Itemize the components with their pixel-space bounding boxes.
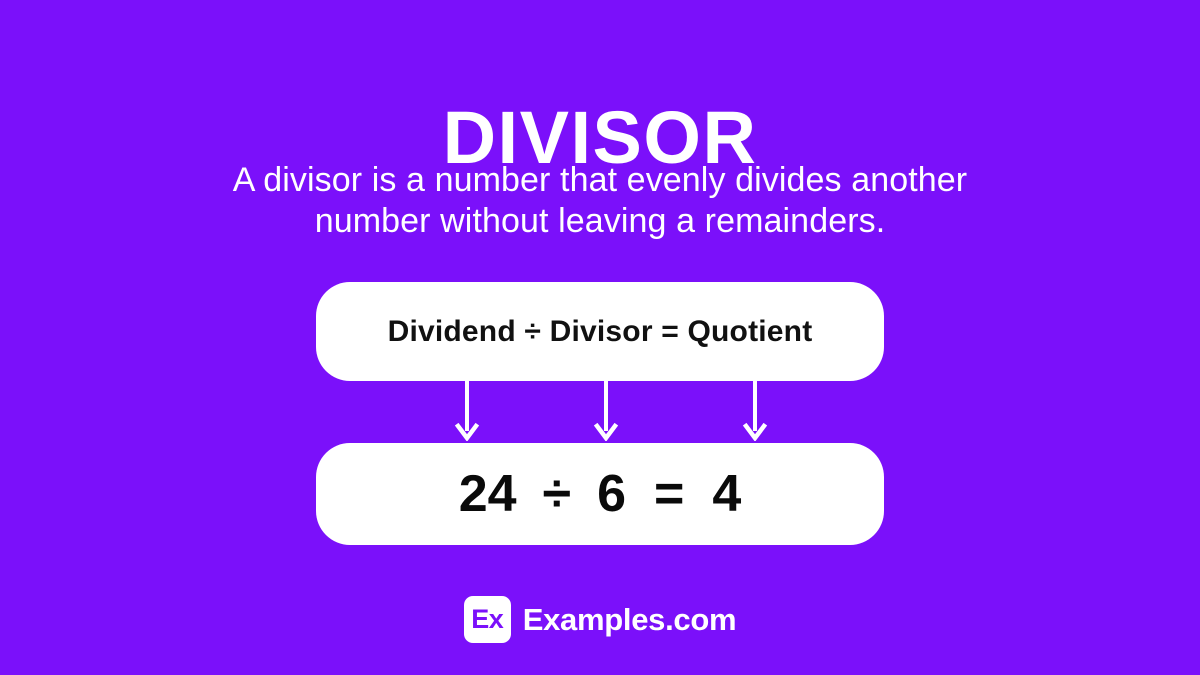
definition-text: A divisor is a number that evenly divide… [120, 160, 1080, 242]
example-expression: 24 ÷ 6 = 4 [459, 464, 742, 524]
example-divisor: 6 [597, 464, 626, 524]
definition-line-2: number without leaving a remainders. [120, 201, 1080, 242]
example-division-sign: ÷ [543, 464, 572, 524]
definition-line-1: A divisor is a number that evenly divide… [120, 160, 1080, 201]
formula-card: Dividend ÷ Divisor = Quotient [316, 282, 884, 381]
arrow-divisor-icon [593, 381, 619, 441]
formula-expression: Dividend ÷ Divisor = Quotient [388, 315, 813, 349]
example-quotient: 4 [712, 464, 741, 524]
brand-wordmark: Examples.com [523, 604, 737, 635]
infographic-canvas: DIVISOR A divisor is a number that evenl… [0, 0, 1200, 675]
arrow-dividend-icon [454, 381, 480, 441]
arrow-group [0, 381, 1200, 443]
example-dividend: 24 [459, 464, 517, 524]
brand-footer: Ex Examples.com [0, 596, 1200, 643]
example-card: 24 ÷ 6 = 4 [316, 443, 884, 545]
logo-mark-label: Ex [471, 606, 503, 633]
example-equals-sign: = [654, 464, 684, 524]
examples-logo-icon: Ex [464, 596, 511, 643]
arrow-quotient-icon [742, 381, 768, 441]
